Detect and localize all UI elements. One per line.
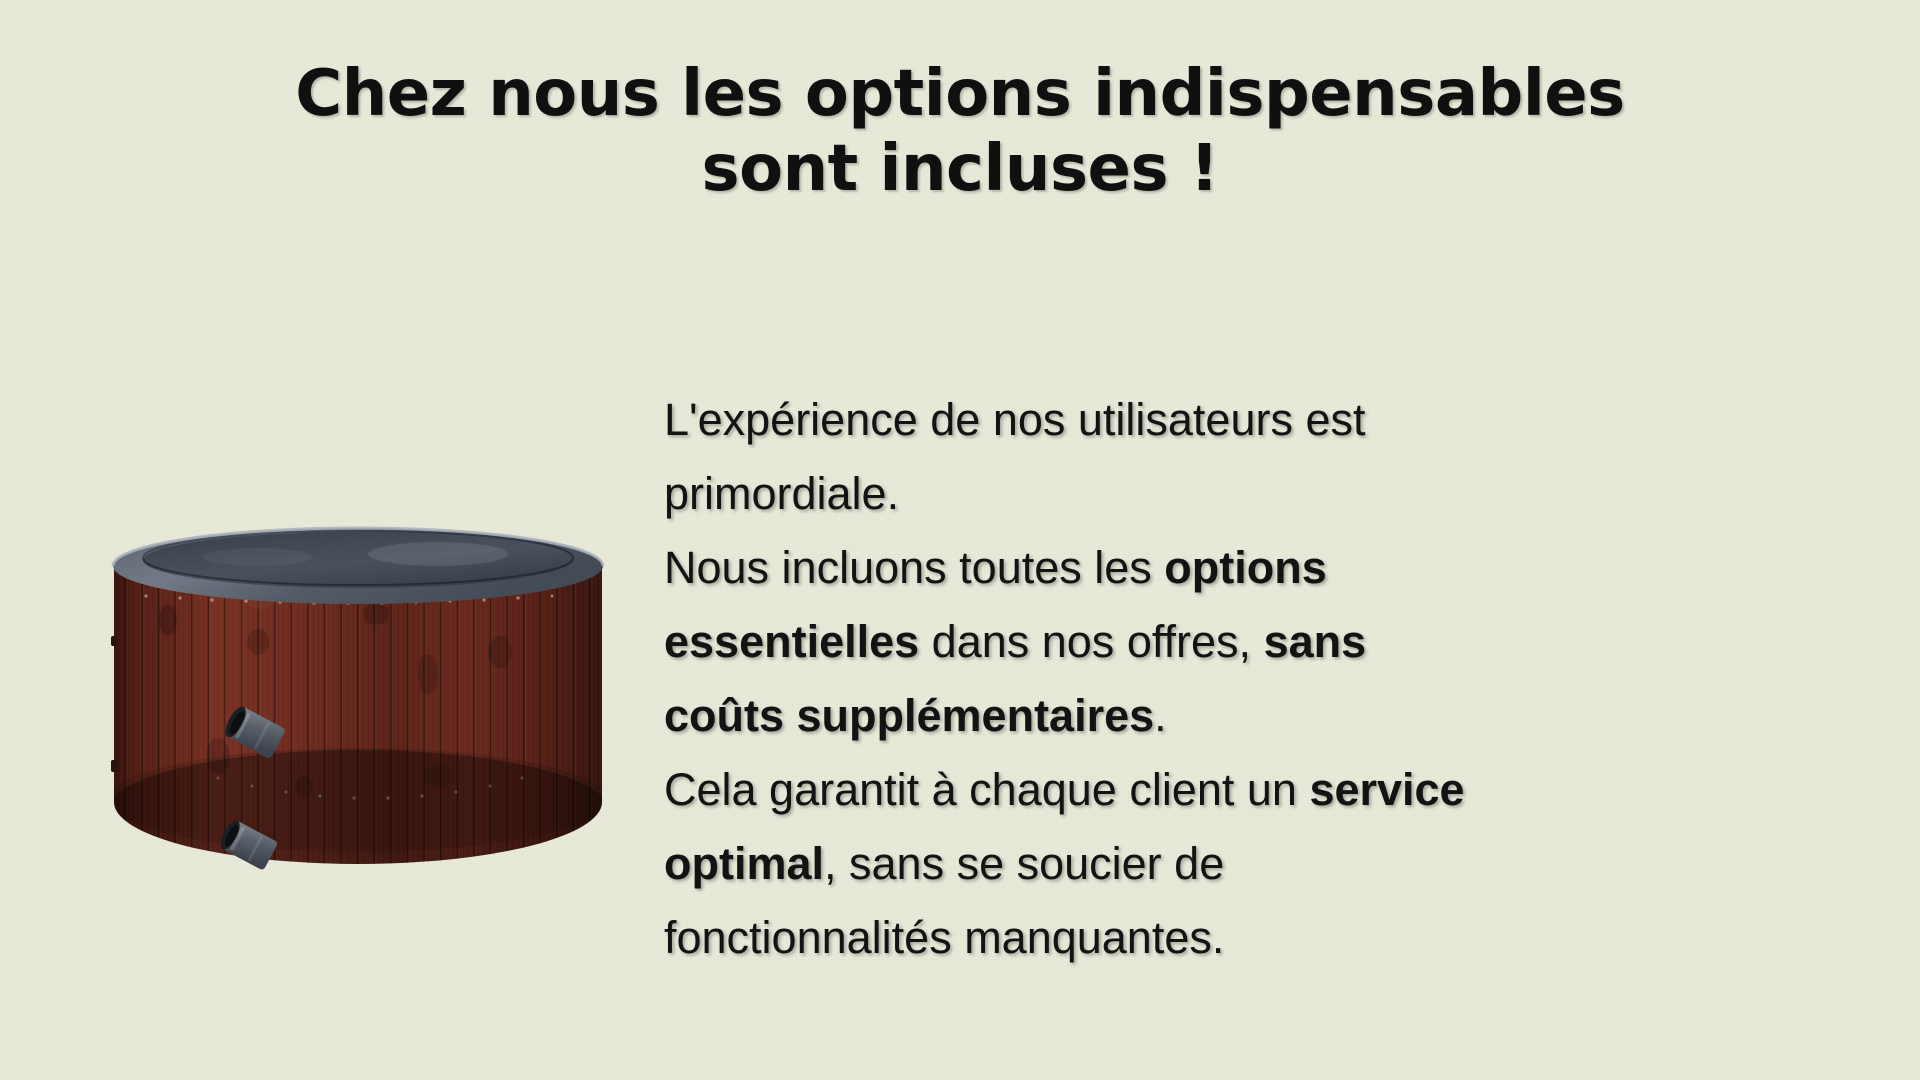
body-run: L'expérience de nos utilisateurs est [664,394,1366,445]
body-copy: L'expérience de nos utilisateurs estprim… [664,383,1544,975]
body-emphasis: essentielles [664,616,919,667]
body-line: fonctionnalités manquantes. [664,901,1544,975]
body-run: Nous incluons toutes les [664,542,1164,593]
body-line: Cela garantit à chaque client un service [664,753,1544,827]
body-run: . [1154,690,1167,741]
body-run: Cela garantit à chaque client un [664,764,1309,815]
body-run: , sans se soucier de [824,838,1224,889]
body-line: coûts supplémentaires. [664,679,1544,753]
body-line: optimal, sans se soucier de [664,827,1544,901]
body-line: Nous incluons toutes les options [664,531,1544,605]
tub-interior-sheen-2 [203,548,313,566]
tub-clip-left [111,760,119,772]
body-text: L'expérience de nos utilisateurs estprim… [664,383,1544,975]
title-text: Chez nous les options indispensables son… [240,57,1680,208]
body-line: L'expérience de nos utilisateurs est [664,383,1544,457]
page-title: Chez nous les options indispensables son… [0,14,1920,251]
body-run: dans nos offres, [919,616,1263,667]
body-run: primordiale. [664,468,899,519]
body-emphasis: sans [1264,616,1367,667]
hot-tub-image [108,524,608,884]
body-run: fonctionnalités manquantes. [664,912,1224,963]
body-line: primordiale. [664,457,1544,531]
body-emphasis: options [1164,542,1326,593]
body-emphasis: service [1309,764,1464,815]
body-line: essentielles dans nos offres, sans [664,605,1544,679]
hot-tub-illustration [108,524,608,884]
slide-canvas: Chez nous les options indispensables son… [0,0,1920,1080]
tub-clip-left-upper [111,636,117,646]
body-emphasis: optimal [664,838,824,889]
body-emphasis: coûts supplémentaires [664,690,1154,741]
tub-interior-sheen [368,542,508,566]
